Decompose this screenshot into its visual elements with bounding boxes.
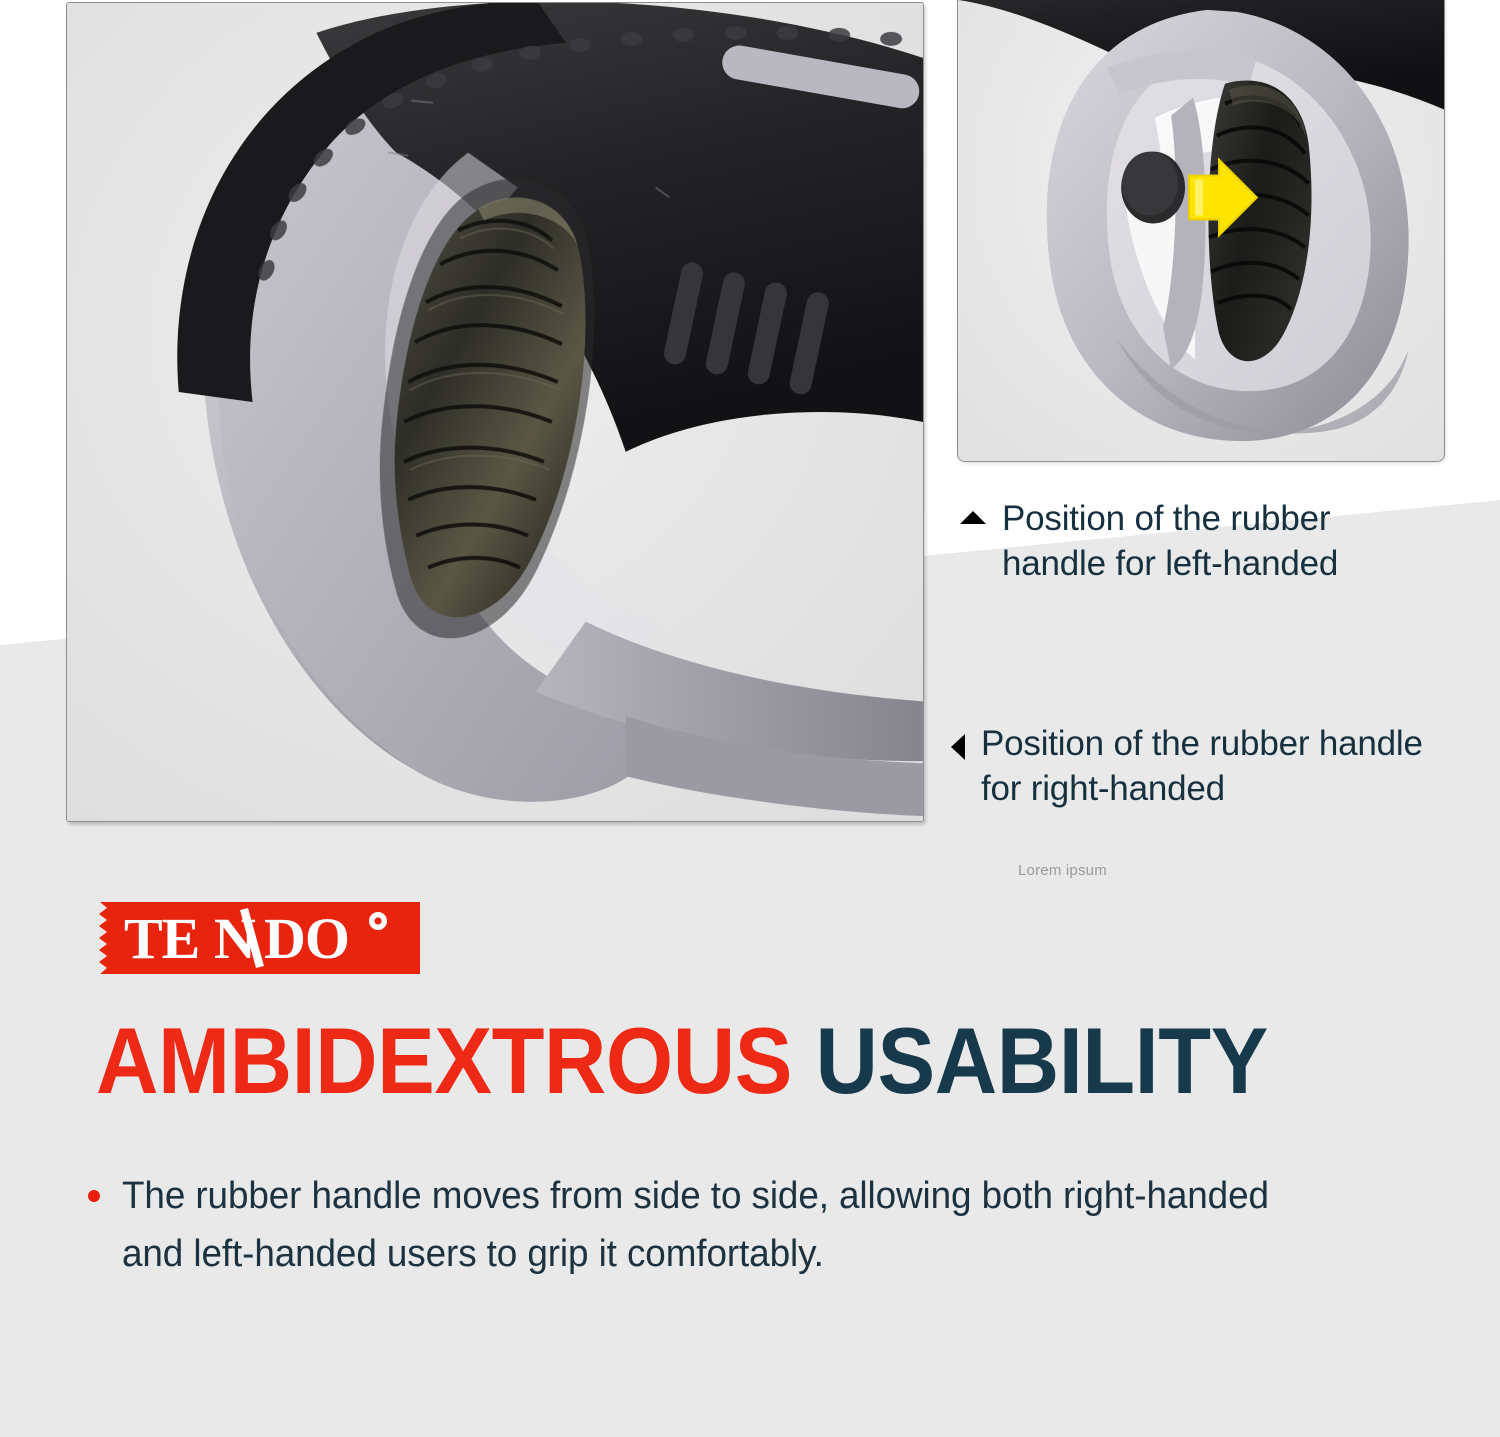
headline-separator [792,1008,816,1113]
main-product-image [66,2,924,822]
page-title: AMBIDEXTROUS USABILITY [96,1014,1329,1108]
feature-description-text: The rubber handle moves from side to sid… [122,1168,1269,1284]
callout-right-handed: Position of the rubber handle for right-… [951,722,1500,812]
product-render-inset [958,0,1444,461]
micro-caption: Lorem ipsum [1018,862,1107,879]
tendo-logo: TE N DO [88,896,420,978]
product-render-main [67,3,923,821]
tendo-logo-graphic: TE N DO [88,896,420,978]
svg-text:TE: TE [124,906,199,971]
feature-description: The rubber handle moves from side to sid… [88,1168,1338,1284]
callout-left-handed: Position of the rubber handle for left-h… [960,497,1500,587]
bullet-dot-icon [88,1190,100,1202]
callout-right-handed-text: Position of the rubber handle for right-… [981,722,1423,812]
callout-left-handed-text: Position of the rubber handle for left-h… [1002,497,1338,587]
svg-text:DO: DO [264,906,349,971]
marketing-infographic-page: Position of the rubber handle for left-h… [0,0,1500,1437]
triangle-up-icon [960,511,986,524]
triangle-left-icon [951,734,965,760]
headline-part-two: USABILITY [816,1008,1268,1113]
inset-product-image [957,0,1445,462]
headline-part-one: AMBIDEXTROUS [96,1008,792,1113]
